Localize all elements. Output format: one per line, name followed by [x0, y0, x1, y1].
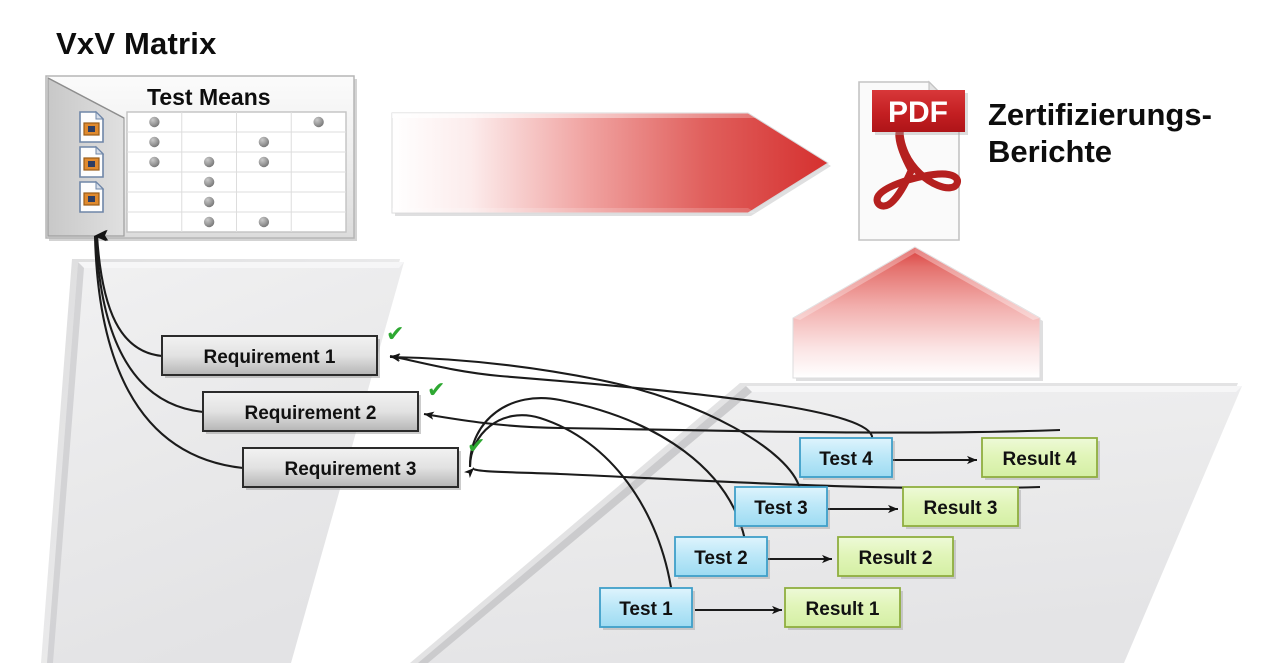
- test-label: Test 4: [819, 449, 873, 470]
- test-box[interactable]: Test 1: [600, 588, 695, 630]
- requirement-box[interactable]: Requirement 3: [243, 448, 461, 490]
- test-box[interactable]: Test 2: [675, 537, 770, 579]
- result-label: Result 1: [806, 599, 880, 620]
- requirement-label: Requirement 3: [285, 459, 417, 480]
- test-box[interactable]: Test 3: [735, 487, 830, 529]
- reports-title: Zertifizierungs- Berichte: [988, 96, 1258, 170]
- reports-title-line1: Zertifizierungs-: [988, 97, 1212, 132]
- result-box[interactable]: Result 4: [982, 438, 1100, 480]
- requirement-box[interactable]: Requirement 2: [203, 392, 421, 434]
- check-icon: ✔: [427, 378, 445, 403]
- test-label: Test 3: [754, 498, 808, 519]
- result-box[interactable]: Result 3: [903, 487, 1021, 529]
- result-label: Result 3: [924, 498, 998, 519]
- result-label: Result 4: [1003, 449, 1077, 470]
- page-title: VxV Matrix: [56, 26, 217, 62]
- check-icon: ✔: [467, 434, 485, 459]
- result-box[interactable]: Result 2: [838, 537, 956, 579]
- requirement-label: Requirement 1: [204, 347, 336, 368]
- requirement-label: Requirement 2: [245, 403, 377, 424]
- test-box[interactable]: Test 4: [800, 438, 895, 480]
- test-label: Test 1: [619, 599, 673, 620]
- result-label: Result 2: [859, 548, 933, 569]
- requirement-box[interactable]: Requirement 1: [162, 336, 380, 378]
- diagram-canvas: Test Means PDF: [0, 0, 1280, 665]
- reports-title-line2: Berichte: [988, 134, 1112, 169]
- check-icon: ✔: [386, 322, 404, 347]
- test-label: Test 2: [694, 548, 748, 569]
- result-box[interactable]: Result 1: [785, 588, 903, 630]
